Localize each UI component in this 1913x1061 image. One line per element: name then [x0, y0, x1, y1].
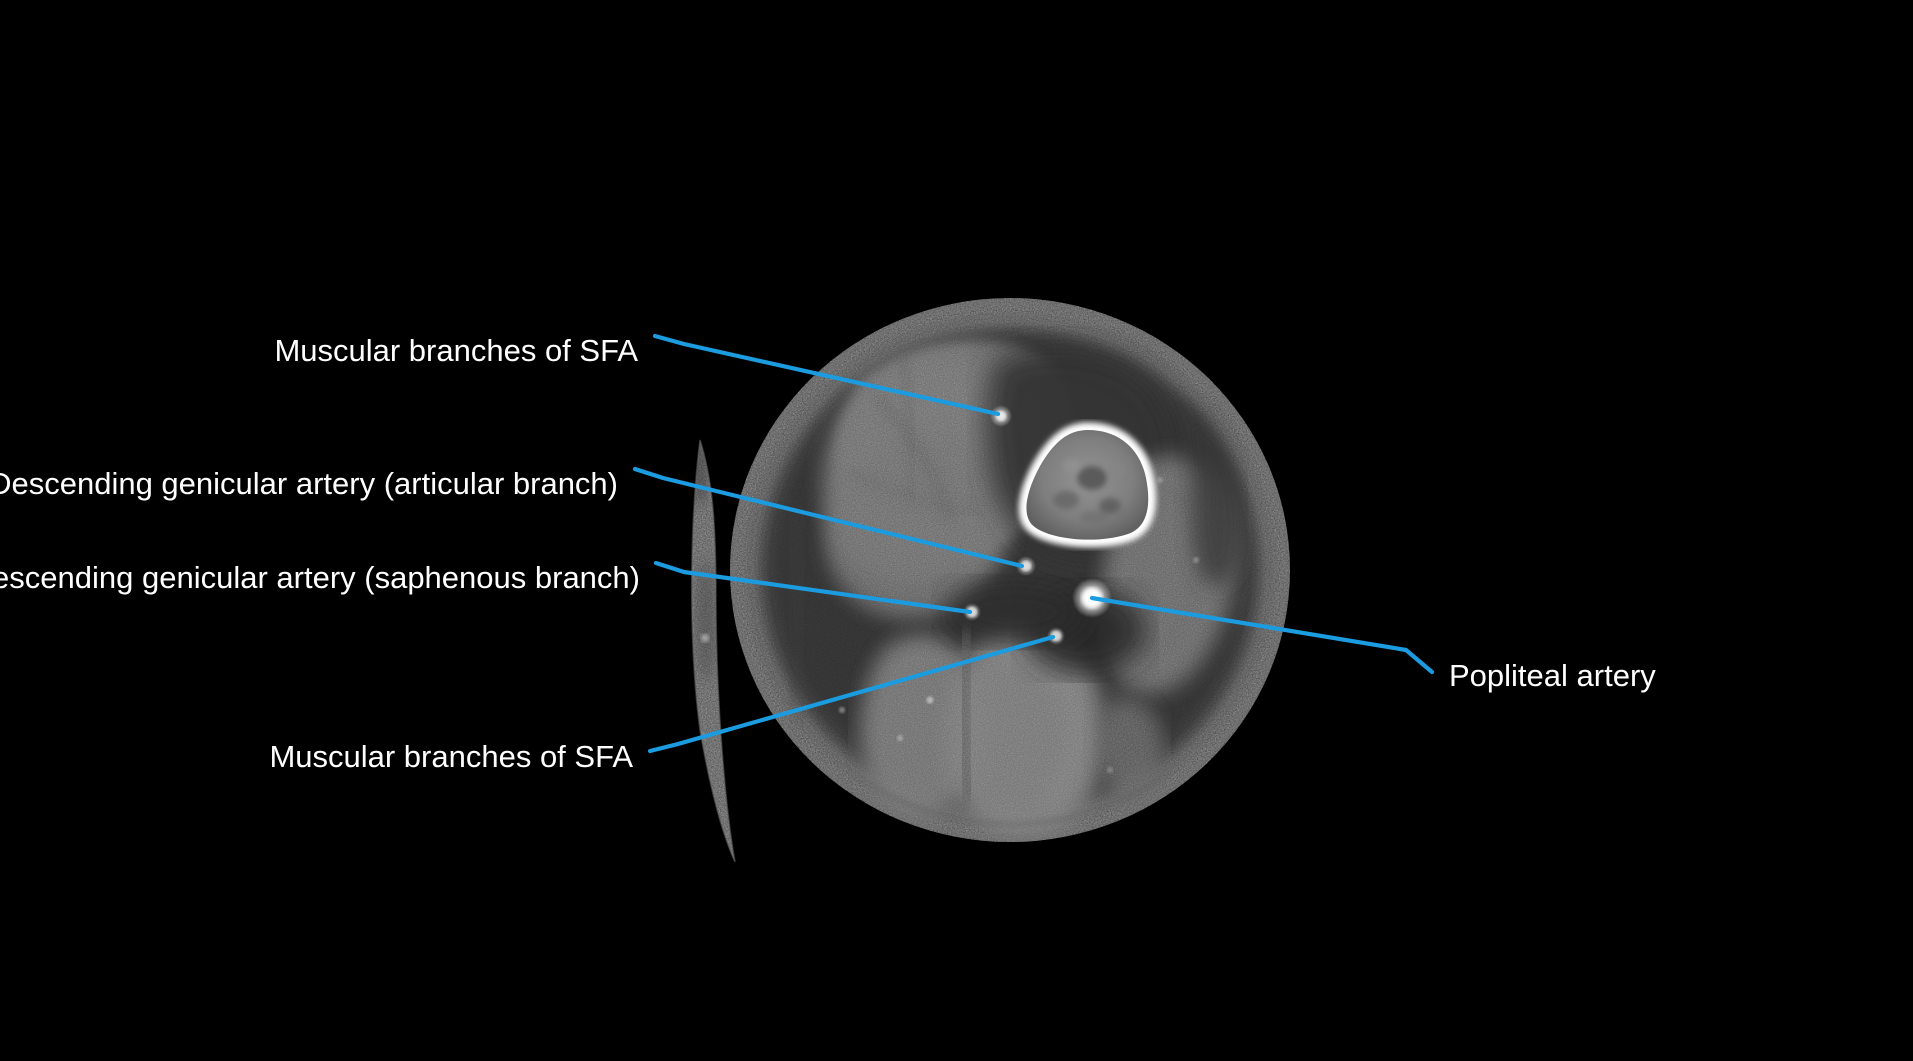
thigh-cross-section [730, 298, 1290, 842]
ct-image-viewport: Muscular branches of SFA Descending geni… [0, 0, 1913, 1061]
ct-scan-image [0, 0, 1913, 1061]
